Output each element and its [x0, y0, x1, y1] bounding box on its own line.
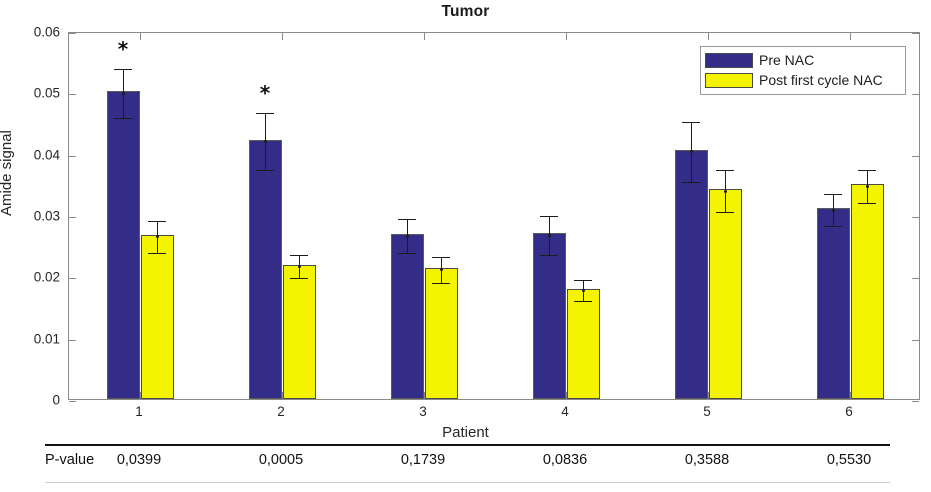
error-bar-center-marker: [156, 235, 159, 238]
error-bar-center-marker: [548, 234, 551, 237]
pvalue-cell-patient-3: 0,1739: [401, 452, 445, 468]
y-tick-label: 0.06: [34, 25, 60, 40]
y-axis-tick: [69, 33, 76, 34]
error-bar-cap-upper: [290, 255, 308, 256]
y-axis-tick-right: [912, 401, 919, 402]
significance-marker-patient-2: *: [260, 83, 270, 103]
error-bar-cap-upper: [148, 221, 166, 222]
error-bar-center-marker: [406, 235, 409, 238]
error-bar-center-marker: [866, 185, 869, 188]
error-bar-cap-lower: [716, 212, 734, 213]
significance-marker-patient-1: *: [118, 39, 128, 59]
y-tick-label: 0.04: [34, 147, 60, 162]
y-axis-tick: [69, 340, 76, 341]
y-axis-tick-right: [912, 340, 919, 341]
error-bar-cap-upper: [540, 216, 558, 217]
y-tick-label: 0.05: [34, 86, 60, 101]
x-axis-tick-top: [566, 33, 567, 40]
x-tick-label: 6: [829, 404, 869, 419]
error-bar-center-marker: [264, 140, 267, 143]
error-bar-cap-lower: [682, 182, 700, 183]
bar-pre-patient-6: [817, 208, 850, 399]
y-axis-tick: [69, 94, 76, 95]
error-bar-cap-lower: [114, 118, 132, 119]
y-axis-title: Amide signal: [0, 130, 15, 216]
y-tick-label: 0.01: [34, 331, 60, 346]
pvalue-cell-patient-6: 0,5530: [827, 452, 871, 468]
y-axis-tick-right: [912, 156, 919, 157]
error-bar-cap-lower: [148, 253, 166, 254]
error-bar-cap-upper: [398, 219, 416, 220]
pvalue-row-label: P-value: [45, 452, 94, 468]
chart-canvas: Tumor Amide signal ** 00.010.020.030.040…: [0, 0, 931, 492]
error-bar-cap-lower: [574, 301, 592, 302]
bar-pre-patient-3: [391, 234, 424, 399]
error-bar-cap-upper: [716, 170, 734, 171]
error-bar-center-marker: [440, 268, 443, 271]
error-bar-cap-upper: [574, 280, 592, 281]
bar-post-patient-6: [851, 184, 884, 399]
bar-pre-patient-4: [533, 233, 566, 399]
x-tick-label: 4: [545, 404, 585, 419]
bar-post-patient-1: [141, 235, 174, 399]
error-bar-cap-lower: [858, 203, 876, 204]
y-axis-tick: [69, 217, 76, 218]
legend-item-pre-nac: Pre NAC: [705, 50, 901, 70]
x-tick-label: 2: [261, 404, 301, 419]
pvalue-table-top-rule: [45, 444, 890, 446]
pvalue-cell-patient-5: 0,3588: [685, 452, 729, 468]
error-bar-cap-lower: [256, 170, 274, 171]
bar-pre-patient-2: [249, 140, 282, 399]
x-axis-title: Patient: [0, 424, 931, 441]
pvalue-cell-patient-1: 0,0399: [117, 452, 161, 468]
error-bar-center-marker: [724, 190, 727, 193]
bar-pre-patient-1: [107, 91, 140, 399]
error-bar-cap-upper: [682, 122, 700, 123]
y-axis-tick-right: [912, 217, 919, 218]
legend-label-pre-nac: Pre NAC: [759, 52, 814, 68]
pvalue-cell-patient-4: 0,0836: [543, 452, 587, 468]
error-bar-cap-lower: [290, 278, 308, 279]
error-bar-center-marker: [298, 265, 301, 268]
error-bar-cap-lower: [398, 253, 416, 254]
y-axis-tick-right: [912, 278, 919, 279]
x-axis-tick-top: [708, 33, 709, 40]
error-bar-cap-lower: [432, 283, 450, 284]
pvalue-table-bottom-rule: [45, 482, 890, 483]
legend-item-post-nac: Post first cycle NAC: [705, 70, 901, 90]
page-title: Tumor: [0, 3, 931, 21]
legend-swatch-post-nac: [705, 73, 753, 88]
bar-post-patient-4: [567, 289, 600, 399]
error-bar-cap-lower: [540, 255, 558, 256]
y-axis-tick-right: [912, 94, 919, 95]
y-axis-tick: [69, 401, 76, 402]
y-tick-label: 0: [52, 393, 60, 408]
error-bar-cap-upper: [256, 113, 274, 114]
x-tick-label: 1: [119, 404, 159, 419]
bar-post-patient-3: [425, 268, 458, 399]
legend-swatch-pre-nac: [705, 53, 753, 68]
pvalue-cell-patient-2: 0,0005: [259, 452, 303, 468]
x-axis-tick-top: [850, 33, 851, 40]
error-bar-cap-upper: [858, 170, 876, 171]
x-tick-label: 3: [403, 404, 443, 419]
y-tick-label: 0.02: [34, 270, 60, 285]
y-tick-label: 0.03: [34, 209, 60, 224]
x-axis-tick-top: [424, 33, 425, 40]
error-bar-center-marker: [122, 92, 125, 95]
error-bar-center-marker: [582, 289, 585, 292]
x-axis-tick-top: [140, 33, 141, 40]
error-bar-cap-lower: [824, 226, 842, 227]
bar-post-patient-2: [283, 265, 316, 399]
legend: Pre NAC Post first cycle NAC: [700, 46, 906, 95]
error-bar-cap-upper: [114, 69, 132, 70]
y-axis-tick-right: [912, 33, 919, 34]
bar-pre-patient-5: [675, 150, 708, 399]
bar-post-patient-5: [709, 189, 742, 399]
x-tick-label: 5: [687, 404, 727, 419]
error-bar-center-marker: [832, 209, 835, 212]
y-axis-tick: [69, 278, 76, 279]
error-bar-cap-upper: [432, 257, 450, 258]
error-bar-cap-upper: [824, 194, 842, 195]
legend-label-post-nac: Post first cycle NAC: [759, 72, 883, 88]
x-axis-tick-top: [282, 33, 283, 40]
y-axis-tick: [69, 156, 76, 157]
